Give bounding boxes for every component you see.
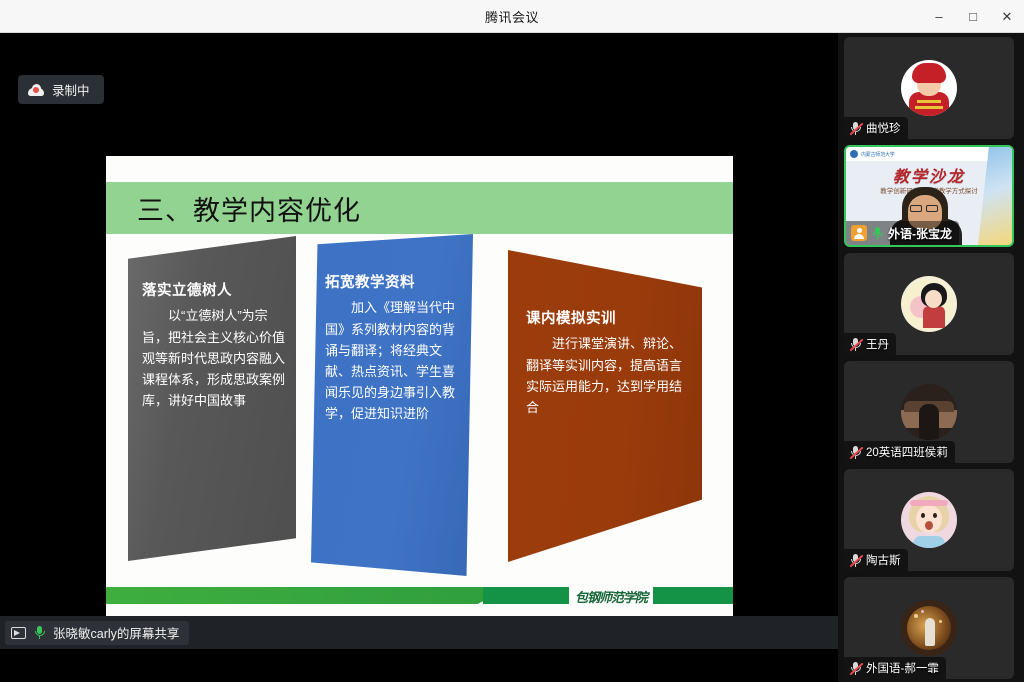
panel-body-gray: 以“立德树人”为宗旨，把社会主义核心价值观等新时代思政内容融入课程体系，形成思政… (142, 305, 288, 410)
mic-muted-icon (849, 445, 862, 460)
panel-moral-education: 落实立德树人 以“立德树人”为宗旨，把社会主义核心价值观等新时代思政内容融入课程… (128, 236, 296, 561)
avatar-5 (901, 492, 957, 548)
mic-muted-icon (849, 553, 862, 568)
mic-muted-icon (849, 337, 862, 352)
nameplate-5: 陶古斯 (844, 549, 908, 571)
recording-badge[interactable]: 录制中 (18, 75, 104, 104)
avatar-6 (901, 600, 957, 656)
participant-tile-6[interactable]: 外国语-郝一霏 (844, 577, 1014, 679)
footer-bar-left (106, 587, 510, 604)
mic-muted-icon (849, 661, 862, 676)
nameplate-2: 外语-张宝龙 (846, 221, 959, 245)
speaker-glasses-right (926, 205, 938, 212)
footer-institution-logo: 包钢师范学院 (569, 585, 653, 607)
footer-bar-mid (483, 587, 569, 604)
host-badge-icon (851, 225, 867, 241)
participant-name-4: 20英语四班侯莉 (866, 444, 948, 460)
footer-bar-right (650, 587, 733, 604)
panel-text-gray: 落实立德树人 以“立德树人”为宗旨，把社会主义核心价值观等新时代思政内容融入课程… (142, 280, 288, 411)
participant-filmstrip[interactable]: 曲悦珍 内蒙古师范大学 教学沙龙 教学创新研究与课堂教学方式探讨 (838, 33, 1024, 682)
video-slide-title: 教学沙龙 (846, 163, 1012, 187)
nameplate-1: 曲悦珍 (844, 117, 908, 139)
maximize-button[interactable]: □ (956, 0, 990, 33)
avatar-1 (901, 60, 957, 116)
window-controls: – □ ✕ (922, 0, 1024, 33)
panel-heading-gray: 落实立德树人 (142, 280, 288, 303)
video-decorative-stripe (978, 147, 1012, 245)
share-status-text: 张晓敏carly的屏幕共享 (53, 623, 179, 642)
panel-in-class-simulation: 课内模拟实训 进行课堂演讲、辩论、翻译等实训内容，提高语言实际运用能力，达到学用… (502, 250, 702, 562)
minimize-button[interactable]: – (922, 0, 956, 33)
participant-name-5: 陶古斯 (866, 552, 901, 568)
window-title: 腾讯会议 (485, 7, 539, 26)
recording-label: 录制中 (52, 80, 90, 99)
panel-heading-blue: 拓宽教学资料 (325, 272, 467, 295)
panel-teaching-materials: 拓宽教学资料 加入《理解当代中国》系列教材内容的背诵与翻译；将经典文献、热点资讯… (311, 234, 473, 576)
slide-top-strip (106, 156, 733, 182)
participant-name-6: 外国语-郝一霏 (866, 660, 939, 676)
mic-on-icon (871, 226, 884, 241)
participant-tile-3[interactable]: 王丹 (844, 253, 1014, 355)
participant-name-2: 外语-张宝龙 (888, 225, 952, 242)
shared-screen-stage[interactable]: 录制中 三、教学内容优化 落实立德树人 以“立德树人”为宗旨，把社会主义核心价值… (0, 33, 838, 649)
screen-share-icon (11, 627, 26, 639)
panel-body-orange: 进行课堂演讲、辩论、翻译等实训内容，提高语言实际运用能力，达到学用结合 (526, 333, 684, 417)
video-logo-text: 内蒙古师范大学 (861, 151, 895, 158)
video-banner-top: 内蒙古师范大学 (846, 147, 1012, 161)
panel-heading-orange: 课内模拟实训 (526, 308, 684, 331)
nameplate-3: 王丹 (844, 333, 896, 355)
presentation-slide: 三、教学内容优化 落实立德树人 以“立德树人”为宗旨，把社会主义核心价值观等新时… (106, 156, 733, 624)
university-logo-icon (850, 150, 858, 158)
close-button[interactable]: ✕ (990, 0, 1024, 33)
participant-tile-4[interactable]: 20英语四班侯莉 (844, 361, 1014, 463)
cloud-record-icon (28, 84, 44, 96)
nameplate-4: 20英语四班侯莉 (844, 441, 955, 463)
avatar-3 (901, 276, 957, 332)
avatar-4 (901, 384, 957, 440)
participant-name-3: 王丹 (866, 336, 889, 352)
title-bar: 腾讯会议 – □ ✕ (0, 0, 1024, 33)
participant-name-1: 曲悦珍 (866, 120, 901, 136)
mic-on-icon (33, 625, 46, 640)
panel-body-blue: 加入《理解当代中国》系列教材内容的背诵与翻译；将经典文献、热点资讯、学生喜闻乐见… (325, 297, 467, 423)
participant-tile-1[interactable]: 曲悦珍 (844, 37, 1014, 139)
slide-title: 三、教学内容优化 (137, 182, 361, 234)
panel-text-blue: 拓宽教学资料 加入《理解当代中国》系列教材内容的背诵与翻译；将经典文献、热点资讯… (325, 272, 467, 424)
participant-tile-5[interactable]: 陶古斯 (844, 469, 1014, 571)
mic-muted-icon (849, 121, 862, 136)
share-status-bar: 张晓敏carly的屏幕共享 (0, 616, 838, 649)
share-status-chip[interactable]: 张晓敏carly的屏幕共享 (5, 621, 189, 645)
tencent-meeting-window: 腾讯会议 – □ ✕ 录制中 三、教学内容优化 (0, 0, 1024, 682)
speaker-glasses-left (910, 205, 922, 212)
meeting-content: 录制中 三、教学内容优化 落实立德树人 以“立德树人”为宗旨，把社会主义核心价值… (0, 33, 1024, 682)
panel-text-orange: 课内模拟实训 进行课堂演讲、辩论、翻译等实训内容，提高语言实际运用能力，达到学用… (526, 308, 684, 418)
slide-panels: 落实立德树人 以“立德树人”为宗旨，把社会主义核心价值观等新时代思政内容融入课程… (106, 234, 733, 586)
participant-tile-2[interactable]: 内蒙古师范大学 教学沙龙 教学创新研究与课堂教学方式探讨 (844, 145, 1014, 247)
nameplate-6: 外国语-郝一霏 (844, 657, 946, 679)
